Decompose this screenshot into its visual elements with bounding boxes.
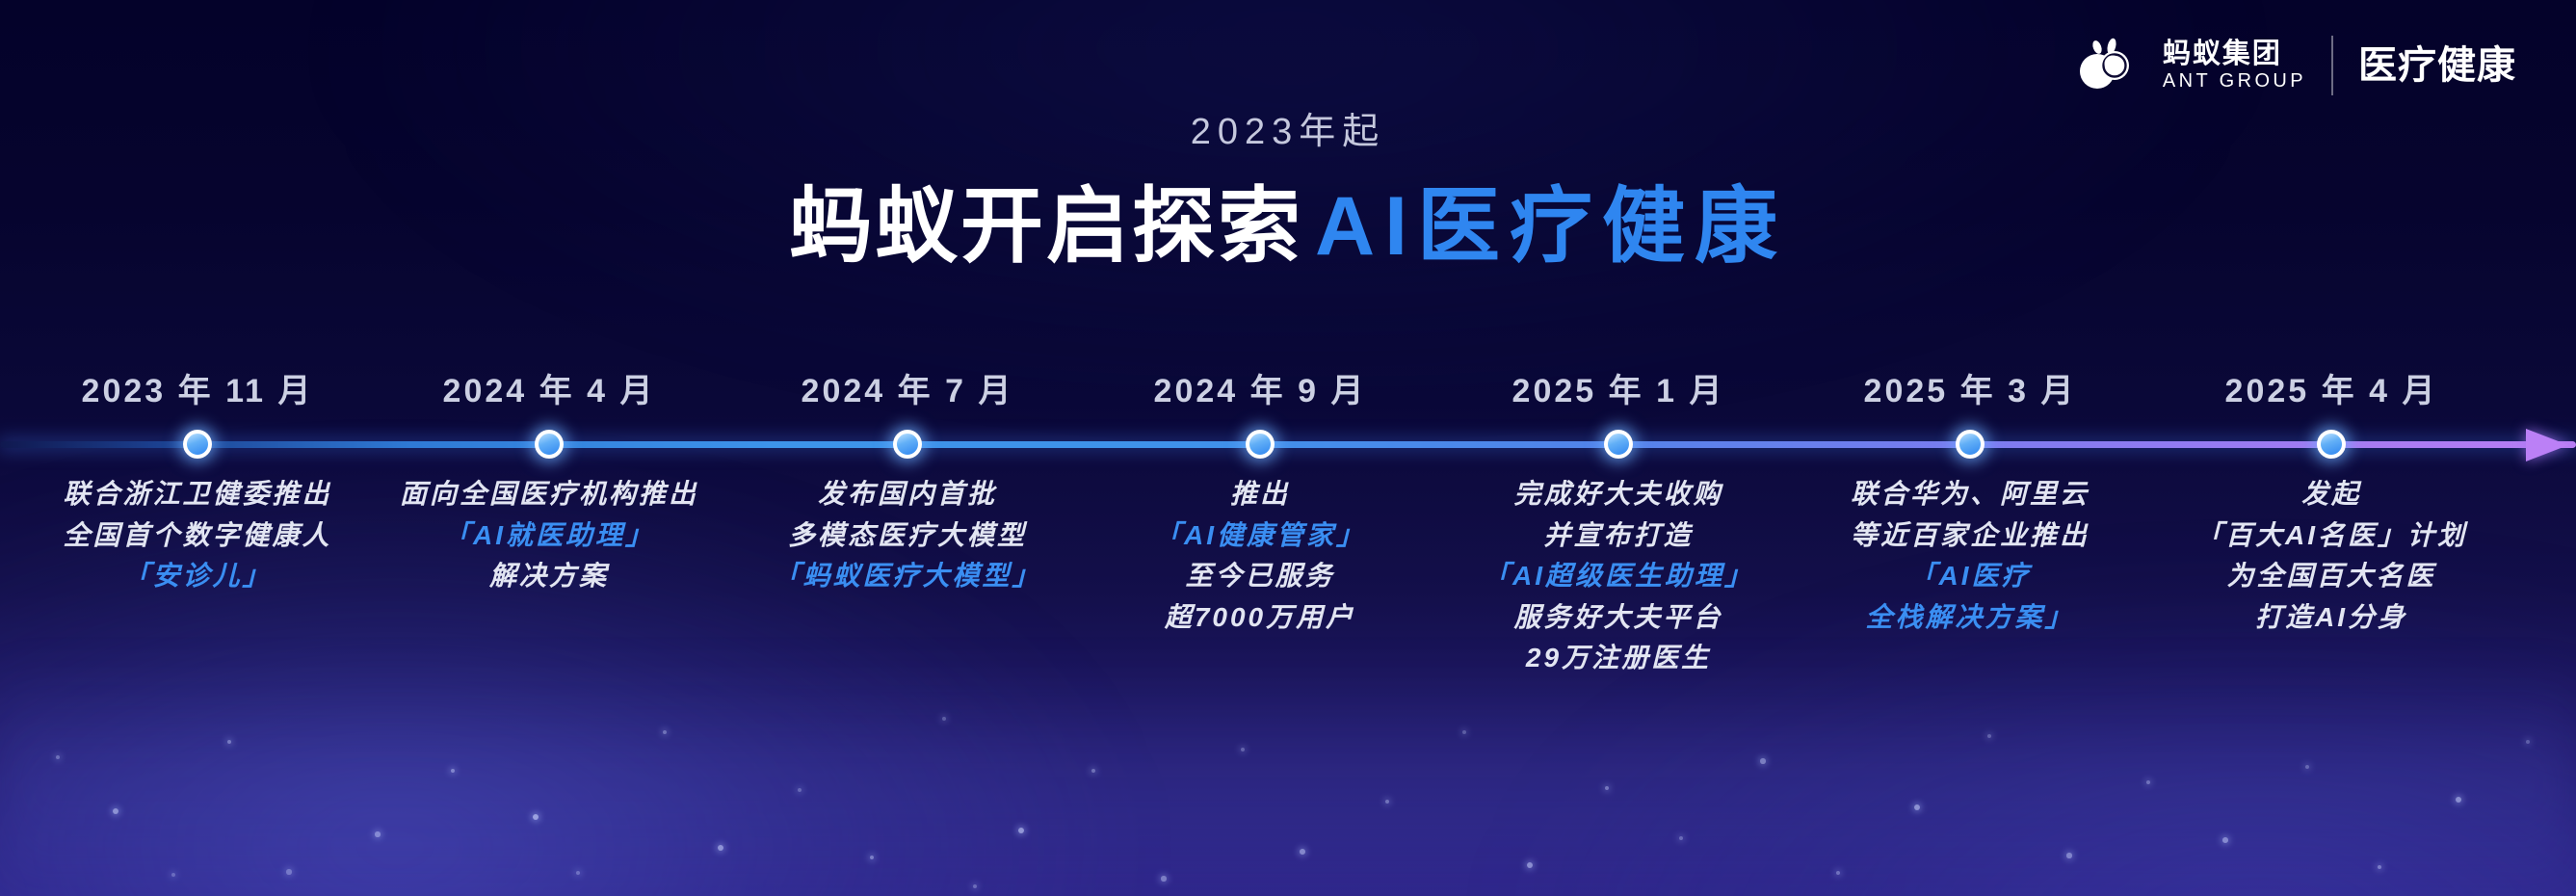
company-name-en: ANT GROUP	[2163, 71, 2306, 91]
milestone-line: 「AI医疗	[1777, 556, 2163, 597]
timeline-dot[interactable]	[893, 430, 922, 459]
milestone-line: 等近百家企业推出	[1777, 515, 2163, 557]
milestone-line: 「蚂蚁医疗大模型」	[715, 556, 1100, 597]
milestone-date: 2024 年 7 月	[802, 364, 1014, 411]
milestone-date: 2023 年 11 月	[82, 364, 314, 411]
milestone-line: 解决方案	[356, 556, 742, 597]
milestone-line: 联合浙江卫健委推出	[5, 474, 390, 515]
ant-logo-icon	[2076, 35, 2138, 96]
milestone-line: 发布国内首批	[715, 474, 1100, 515]
milestone-date: 2025 年 1 月	[1512, 364, 1725, 411]
milestone-line: 29万注册医生	[1426, 638, 1811, 679]
milestone-line: 「百大AI名医」计划	[2139, 515, 2524, 557]
milestone-line: 完成好大夫收购	[1426, 474, 1811, 515]
logo-divider	[2331, 36, 2333, 95]
milestone-description: 完成好大夫收购并宣布打造「AI超级医生助理」服务好大夫平台29万注册医生	[1426, 474, 1811, 679]
milestone-line-highlight: 「百大AI名医」	[2195, 520, 2407, 550]
milestone-line: 「AI超级医生助理」	[1426, 556, 1811, 597]
milestone-line: 推出	[1067, 474, 1453, 515]
timeline-dot[interactable]	[1956, 430, 1985, 459]
milestone-line-plain: 计划	[2407, 520, 2467, 550]
milestone-line: 「AI就医助理」	[356, 515, 742, 557]
milestone-line: 面向全国医疗机构推出	[356, 474, 742, 515]
milestone-date: 2025 年 4 月	[2225, 364, 2438, 411]
timeline-dot[interactable]	[1604, 430, 1633, 459]
milestone-description: 发起「百大AI名医」计划为全国百大名医打造AI分身	[2139, 474, 2524, 638]
milestone-line: 全国首个数字健康人	[5, 515, 390, 557]
timeline-dot[interactable]	[1246, 430, 1275, 459]
timeline-arrow-icon	[2526, 429, 2568, 461]
milestone-description: 推出「AI健康管家」至今已服务超7000万用户	[1067, 474, 1453, 638]
business-unit-label: 医疗健康	[2358, 46, 2516, 85]
timeline-axis	[0, 441, 2576, 448]
milestone-line: 至今已服务	[1067, 556, 1453, 597]
milestone-line: 并宣布打造	[1426, 515, 1811, 557]
page-title-blue: AI医疗健康	[1315, 180, 1787, 273]
milestone-description: 联合浙江卫健委推出全国首个数字健康人「安诊儿」	[5, 474, 390, 597]
ant-group-wordmark: 蚂蚁集团 ANT GROUP	[2163, 40, 2306, 91]
milestone-line: 发起	[2139, 474, 2524, 515]
milestone-line: 多模态医疗大模型	[715, 515, 1100, 557]
milestone-description: 发布国内首批多模态医疗大模型「蚂蚁医疗大模型」	[715, 474, 1100, 597]
milestone-date: 2024 年 9 月	[1154, 364, 1367, 411]
milestone-line: 联合华为、阿里云	[1777, 474, 2163, 515]
milestone-line: 打造AI分身	[2139, 597, 2524, 639]
milestone-description: 面向全国医疗机构推出「AI就医助理」解决方案	[356, 474, 742, 597]
milestone-description: 联合华为、阿里云等近百家企业推出「AI医疗全栈解决方案」	[1777, 474, 2163, 638]
milestone-line: 超7000万用户	[1067, 597, 1453, 639]
company-name-cn: 蚂蚁集团	[2163, 40, 2306, 68]
page-title-white: 蚂蚁开启探索	[789, 180, 1303, 273]
timeline-dot[interactable]	[183, 430, 212, 459]
milestone-line: 「AI健康管家」	[1067, 515, 1453, 557]
timeline-dot[interactable]	[535, 430, 564, 459]
milestone-line: 为全国百大名医	[2139, 556, 2524, 597]
page-title: 蚂蚁开启探索AI医疗健康	[0, 181, 2576, 273]
milestone-date: 2024 年 4 月	[443, 364, 656, 411]
milestone-date: 2025 年 3 月	[1864, 364, 2077, 411]
brand-logo-group: 蚂蚁集团 ANT GROUP 医疗健康	[2076, 35, 2516, 96]
milestone-line: 「安诊儿」	[5, 556, 390, 597]
timeline-dot[interactable]	[2317, 430, 2346, 459]
milestone-line: 服务好大夫平台	[1426, 597, 1811, 639]
milestone-line: 全栈解决方案」	[1777, 597, 2163, 639]
page-eyebrow: 2023年起	[0, 101, 2576, 154]
